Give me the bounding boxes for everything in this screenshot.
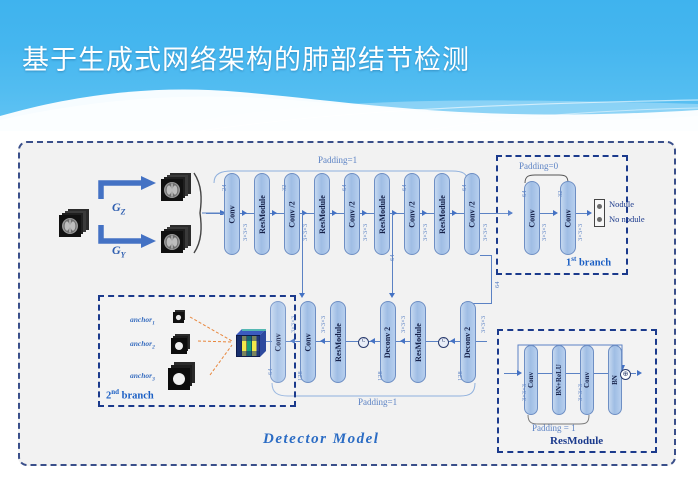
- slide-body: GZ GY: [0, 131, 698, 478]
- resmodule-block-bn[interactable]: BN: [608, 345, 622, 415]
- concat-node-2: C: [358, 337, 369, 348]
- encoder-block-8-channels: 64: [461, 185, 468, 192]
- branch1-output-label-0: Nodule: [609, 199, 634, 209]
- encoder-block-4-kernel: 3×3×3: [362, 224, 369, 241]
- concat-node-1: C: [438, 337, 449, 348]
- skip-arrow-0: [299, 293, 305, 298]
- encoder-arrow-7: [452, 210, 457, 216]
- branch1-output-label-1: No nodule: [609, 214, 645, 224]
- anchor-label-3: anchor3: [130, 371, 155, 383]
- resmodule-block-conv-2[interactable]: Conv: [580, 345, 594, 415]
- generated-volume-z: [160, 171, 194, 208]
- slide-header: 基于生成式网络架构的肺部结节检测: [0, 0, 698, 131]
- encoder-arrow-0: [242, 210, 247, 216]
- skip-arrow-1: [389, 293, 395, 298]
- resmodule-output-arrow: [637, 370, 642, 376]
- encoder-block-resmodule-4[interactable]: ResModule: [434, 173, 450, 255]
- branch2-name: 2nd branch: [106, 388, 154, 402]
- encoder-block-6-kernel: 3×3×3: [422, 224, 429, 241]
- decoder-block-4-kernel: 3×3×3: [320, 316, 327, 333]
- decoder-arrow-3: [320, 338, 325, 344]
- decoder-arrow-1: [400, 338, 405, 344]
- skip-line-0: [302, 213, 303, 295]
- feature-map-cube: [230, 325, 268, 359]
- resmodule-add-node: ⊕: [620, 369, 631, 380]
- branch1-block-1-kernel: 3×3×3: [577, 224, 584, 241]
- decoder-block-2-kernel: 3×3×3: [400, 316, 407, 333]
- encoder-arrow-1: [272, 210, 277, 216]
- resmodule-input-arrow: [517, 370, 522, 376]
- decoder-arrow-0: [450, 338, 455, 344]
- resmodule-block-2-kernel: 3×3×3: [577, 384, 584, 401]
- gz-arrow: [98, 175, 160, 203]
- gy-label: GY: [112, 243, 126, 259]
- skip-label-1: 64: [389, 255, 396, 262]
- page-title: 基于生成式网络架构的肺部结节检测: [22, 38, 470, 77]
- encoder-arrow-3: [332, 210, 337, 216]
- decoder-block-0-channels: 128: [457, 371, 464, 381]
- gy-arrow: [98, 221, 160, 249]
- encoder-block-4-channels: 64: [341, 185, 348, 192]
- output-dot-nodule: [597, 204, 602, 209]
- encoder-padding-bracket: [212, 169, 470, 185]
- slide: 基于生成式网络架构的肺部结节检测: [0, 0, 698, 478]
- gz-label: GZ: [112, 200, 126, 216]
- branch1-output-box: [594, 199, 605, 227]
- decoder-padding-label: Padding=1: [358, 397, 397, 407]
- encoder-arrow-6: [422, 210, 427, 216]
- encoder-block-resmodule-2[interactable]: ResModule: [314, 173, 330, 255]
- branch1-name: 1st branch: [566, 255, 611, 269]
- resmodule-line-3: [594, 373, 608, 374]
- input-ct-volume: [58, 207, 92, 244]
- resmodule-block-bn-relu[interactable]: BN+ReLU: [552, 345, 566, 415]
- encoder-block-2-kernel: 3×3×3: [302, 224, 309, 241]
- decoder-block-0-kernel: 3×3×3: [480, 316, 487, 333]
- output-dot-no-nodule: [597, 217, 602, 222]
- decoder-block-resmodule-2[interactable]: ResModule: [330, 301, 346, 383]
- branch1-block-0-kernel: 3×3×3: [541, 224, 548, 241]
- anchor-label-1: anchor1: [130, 315, 155, 327]
- detector-model-frame: GZ GY: [18, 141, 676, 466]
- skip-line-2-v: [491, 255, 492, 303]
- encoder-block-6-channels: 64: [401, 185, 408, 192]
- resmodule-line-1: [538, 373, 552, 374]
- generated-volume-y: [160, 223, 194, 260]
- resmodule-title: ResModule: [550, 435, 603, 447]
- branch1-block-1-channels: 32: [557, 191, 564, 198]
- encoder-arrow-4: [362, 210, 367, 216]
- encoder-block-resmodule-1[interactable]: ResModule: [254, 173, 270, 255]
- decoder-block-resmodule-1[interactable]: ResModule: [410, 301, 426, 383]
- branch1-block-0-channels: 64: [521, 191, 528, 198]
- branch1-padding-label: Padding=0: [519, 161, 558, 171]
- encoder-block-0-kernel: 3×3×3: [242, 224, 249, 241]
- detector-model-title: Detector Model: [263, 431, 379, 448]
- resmodule-padding-label: Padding = 1: [532, 423, 576, 433]
- skip-label-2: 64: [494, 282, 501, 289]
- encoder-padding-label: Padding=1: [318, 155, 357, 165]
- decoder-block-2-channels: 128: [377, 371, 384, 381]
- encoder-block-resmodule-3[interactable]: ResModule: [374, 173, 390, 255]
- decoder-block-4-channels: 128: [297, 371, 304, 381]
- decoder-arrow-2: [370, 338, 375, 344]
- resmodule-line-2: [566, 373, 580, 374]
- branch1-arrow-2: [587, 210, 592, 216]
- branch1-arrow-1: [553, 210, 558, 216]
- encoder-block-8-kernel: 3×3×3: [482, 224, 489, 241]
- encoder-block-2-channels: 32: [281, 185, 288, 192]
- resmodule-block-conv-1[interactable]: Conv: [524, 345, 538, 415]
- anchor-label-2: anchor2: [130, 339, 155, 351]
- resmodule-block-0-kernel: 3×3×3: [521, 384, 528, 401]
- encoder-block-0-channels: 24: [221, 185, 228, 192]
